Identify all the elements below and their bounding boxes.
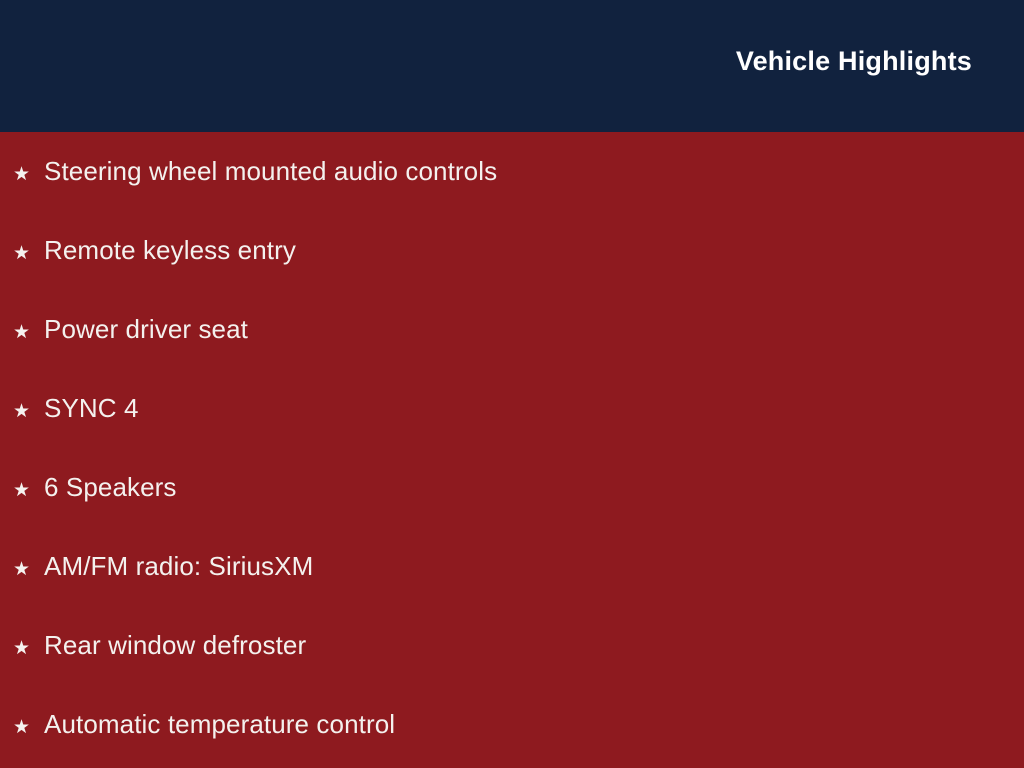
list-item: ★ Automatic temperature control [0, 707, 1024, 768]
star-icon: ★ [13, 395, 44, 429]
highlight-label: AM/FM radio: SiriusXM [44, 549, 313, 583]
star-icon: ★ [13, 632, 44, 666]
list-item: ★ 6 Speakers [0, 470, 1024, 549]
slide-header: Vehicle Highlights [0, 0, 1024, 132]
star-icon: ★ [13, 316, 44, 350]
list-item: ★ Power driver seat [0, 312, 1024, 391]
star-icon: ★ [13, 237, 44, 271]
page-title: Vehicle Highlights [736, 45, 972, 77]
highlight-label: SYNC 4 [44, 391, 139, 425]
vehicle-highlights-list: ★ Steering wheel mounted audio controls … [0, 132, 1024, 768]
star-icon: ★ [13, 553, 44, 587]
list-item: ★ Remote keyless entry [0, 233, 1024, 312]
highlight-label: Power driver seat [44, 312, 248, 346]
highlight-label: Automatic temperature control [44, 707, 395, 741]
list-item: ★ Steering wheel mounted audio controls [0, 132, 1024, 233]
highlight-label: 6 Speakers [44, 470, 177, 504]
list-item: ★ Rear window defroster [0, 628, 1024, 707]
star-icon: ★ [13, 474, 44, 508]
star-icon: ★ [13, 711, 44, 745]
highlight-label: Steering wheel mounted audio controls [44, 154, 497, 188]
list-item: ★ SYNC 4 [0, 391, 1024, 470]
star-icon: ★ [13, 158, 44, 192]
list-item: ★ AM/FM radio: SiriusXM [0, 549, 1024, 628]
vehicle-highlights-slide: Vehicle Highlights ★ Steering wheel moun… [0, 0, 1024, 768]
highlight-label: Remote keyless entry [44, 233, 296, 267]
highlight-label: Rear window defroster [44, 628, 306, 662]
